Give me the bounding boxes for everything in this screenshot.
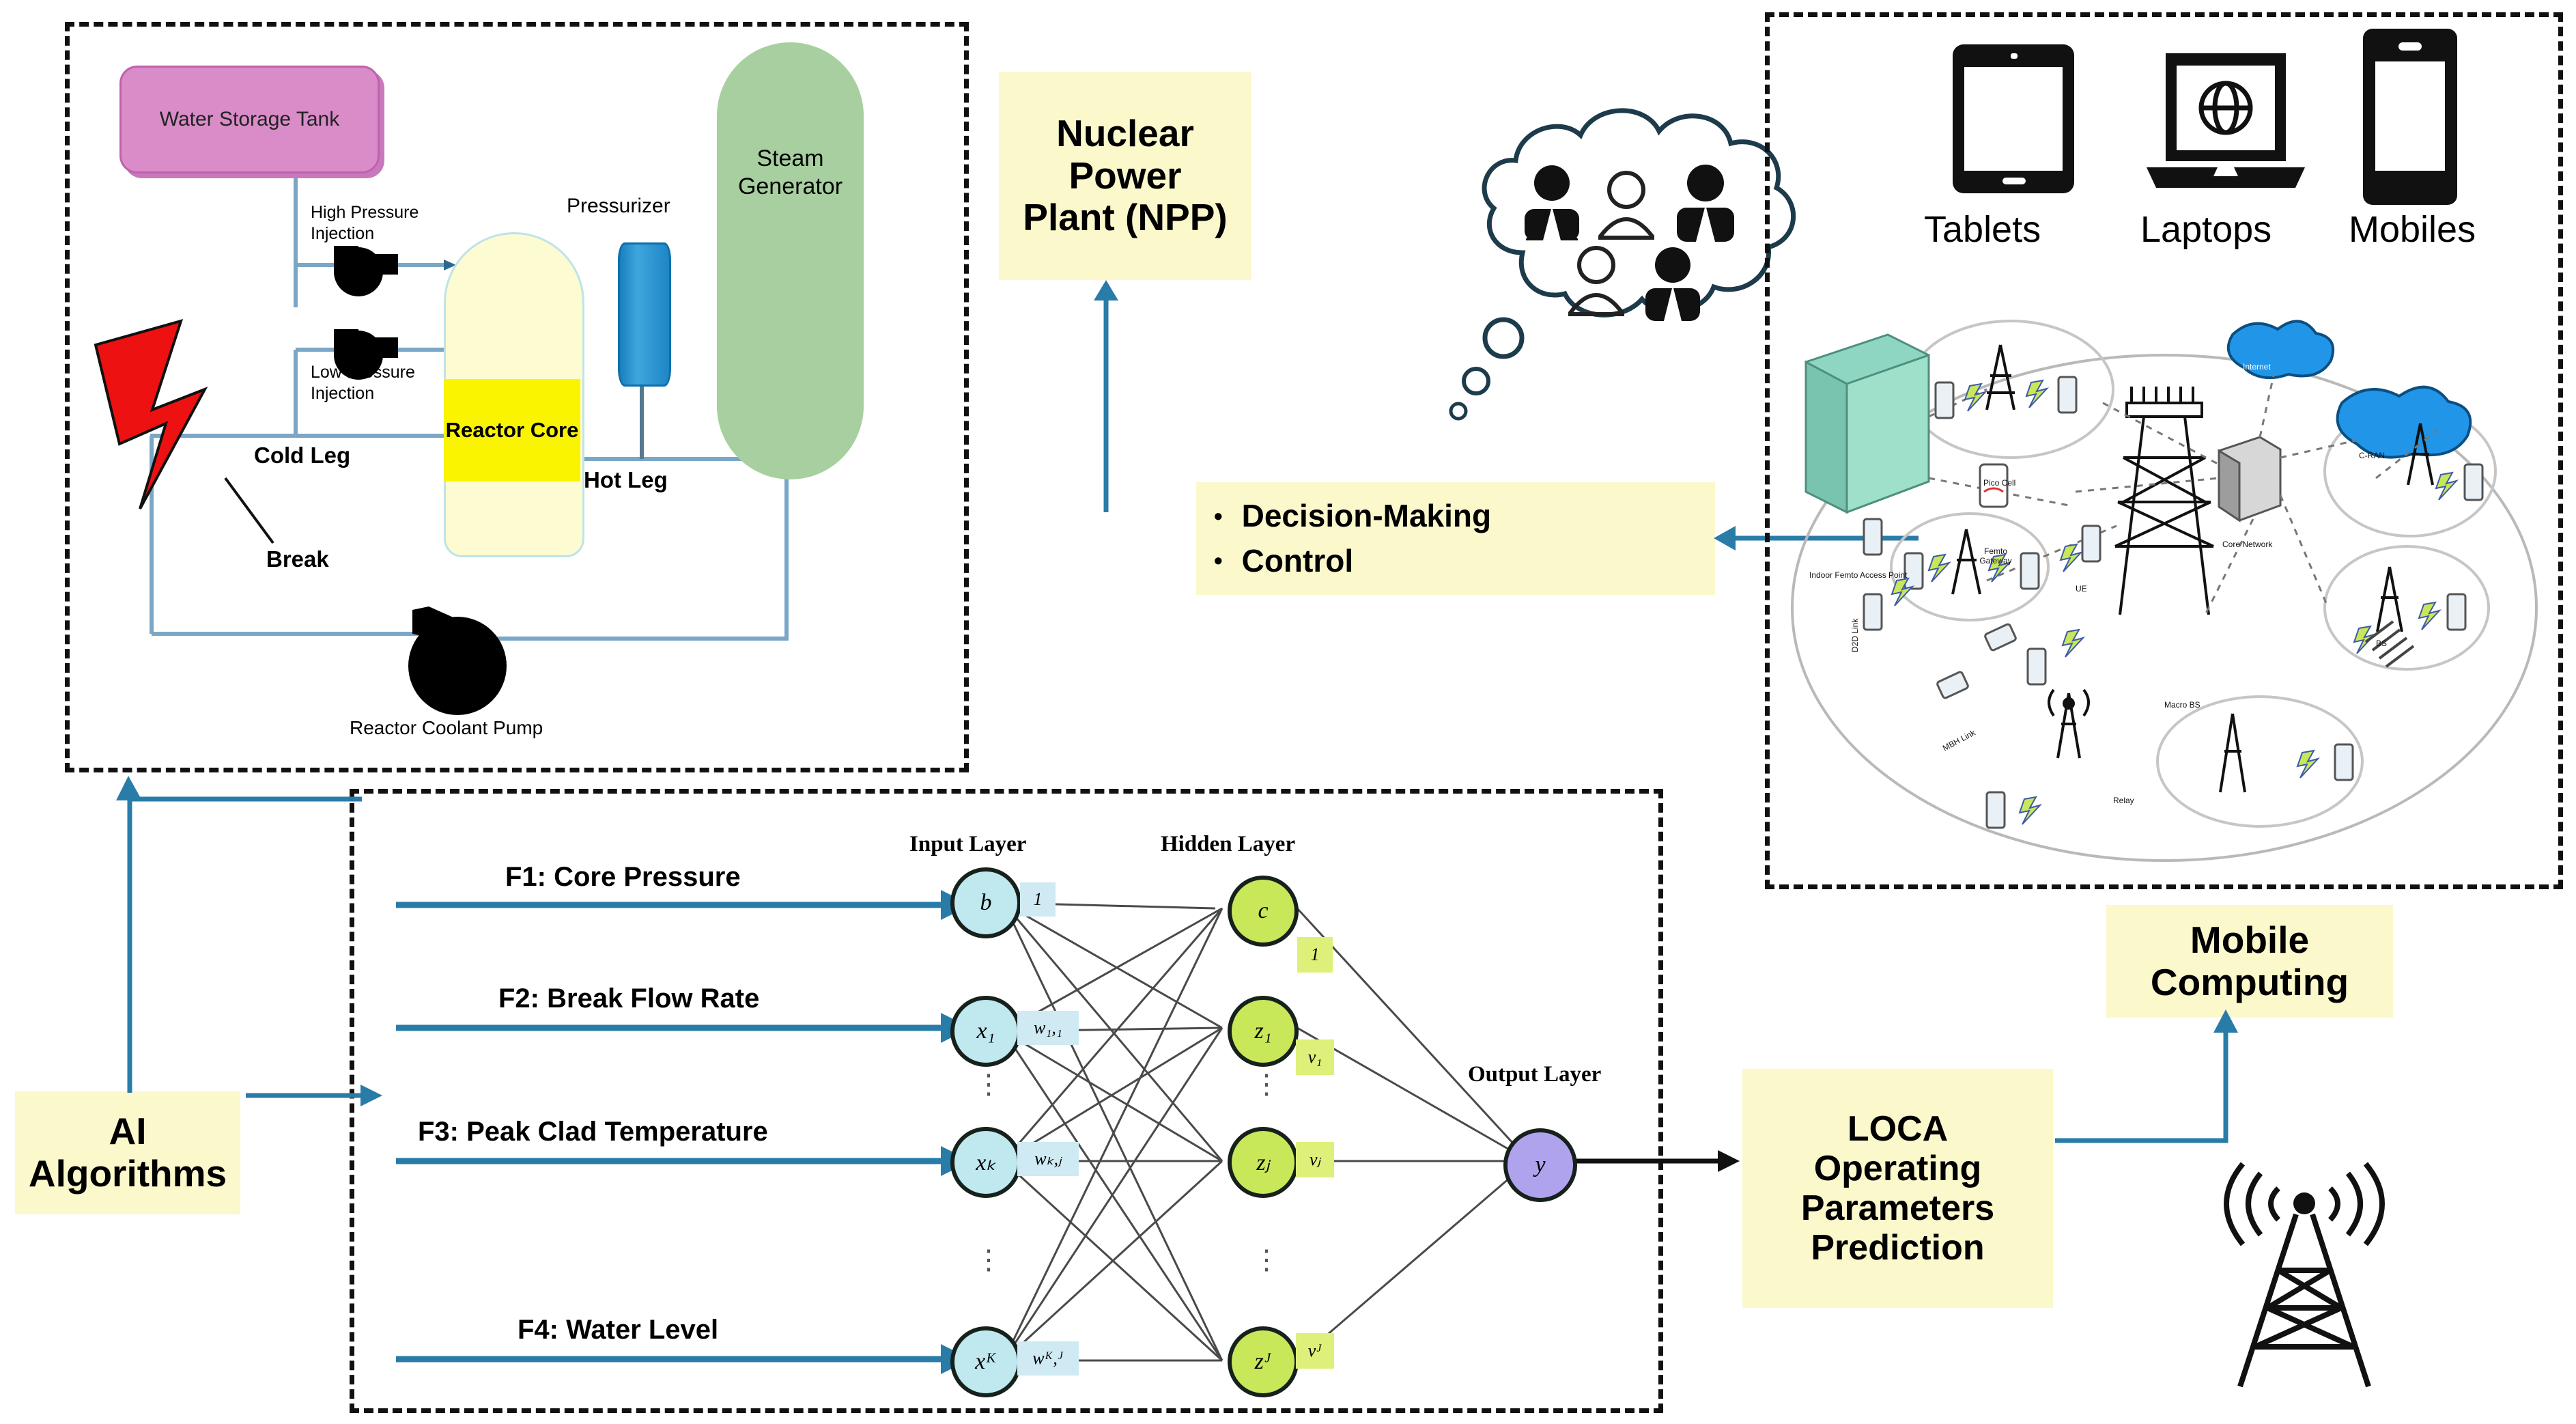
network-label-macro-bs: Macro BS: [2164, 700, 2200, 710]
network-label-cran: C-RAN: [2359, 451, 2385, 460]
wireless-topology-illustration: [1782, 321, 2540, 867]
hidden-weight-vj: vⱼ: [1296, 1142, 1334, 1177]
input-node-xK: xᴷ: [950, 1326, 1021, 1397]
mobile-phone-icon: [2359, 26, 2461, 210]
network-label-core-network: Core Network: [2222, 540, 2272, 549]
layer-label-output: Output Layer: [1468, 1062, 1601, 1087]
feature-arrows: [382, 840, 997, 1386]
feature-label-1: F2: Break Flow Rate: [498, 983, 759, 1014]
input-weight-bias: 1: [1020, 882, 1056, 917]
hidden-ellipsis-1: ⋮: [1253, 1069, 1280, 1100]
cell-tower-icon: [2202, 1161, 2407, 1393]
layer-label-hidden: Hidden Layer: [1161, 832, 1295, 857]
ai-to-nn-connector: [109, 1065, 396, 1134]
loca-prediction-callout: LOCA Operating Parameters Prediction: [1742, 1069, 2053, 1308]
layer-label-input: Input Layer: [909, 832, 1026, 857]
network-label-bs: BS: [2376, 639, 2387, 648]
output-node-y: y: [1503, 1128, 1577, 1202]
ai-to-npp-connector: [102, 758, 410, 1113]
hidden-node-zj: zⱼ: [1228, 1127, 1299, 1198]
feature-label-3: F4: Water Level: [518, 1315, 718, 1345]
device-label-tablets: Tablets: [1924, 208, 2041, 251]
laptop-icon: [2144, 48, 2308, 198]
input-node-b: b: [950, 867, 1021, 938]
network-label-internet: Internet: [2243, 362, 2271, 372]
network-label-relay: Relay: [2113, 796, 2134, 805]
network-label-indoor-femto: Indoor Femto Access Point: [1809, 570, 1907, 580]
network-label-femto-gateway: Femto Gateway: [1972, 546, 2020, 566]
network-label-d2d-link: D2D Link: [1850, 619, 1860, 652]
feature-label-0: F1: Core Pressure: [505, 862, 741, 893]
network-label-pico-cell: Pico Cell: [1983, 478, 2015, 488]
device-label-mobiles: Mobiles: [2349, 208, 2476, 251]
device-label-laptops: Laptops: [2140, 208, 2271, 251]
input-weight-wkj: wₖ,ⱼ: [1017, 1142, 1079, 1176]
hidden-node-c: c: [1228, 876, 1299, 947]
input-ellipsis-2: ⋮: [975, 1244, 1002, 1276]
hidden-node-z1: z₁: [1228, 996, 1299, 1067]
input-weight-w11: w₁,₁: [1017, 1011, 1079, 1045]
input-node-x1: x₁: [950, 996, 1021, 1067]
feature-label-2: F3: Peak Clad Temperature: [418, 1117, 768, 1147]
hidden-weight-bias: 1: [1297, 937, 1333, 973]
network-label-ue: UE: [2076, 584, 2087, 594]
mobile-computing-callout: Mobile Computing: [2106, 905, 2393, 1018]
hidden-ellipsis-2: ⋮: [1253, 1244, 1280, 1276]
tablet-icon: [1949, 41, 2079, 198]
hidden-weight-v1: v₁: [1296, 1039, 1334, 1075]
input-weight-wKJ: wᴷ,ᴶ: [1017, 1341, 1079, 1376]
hidden-weight-vJ: vᴶ: [1296, 1333, 1334, 1369]
input-node-xk: xₖ: [950, 1127, 1021, 1198]
input-ellipsis-1: ⋮: [975, 1069, 1002, 1100]
hidden-node-zJ: zᴶ: [1228, 1326, 1299, 1397]
